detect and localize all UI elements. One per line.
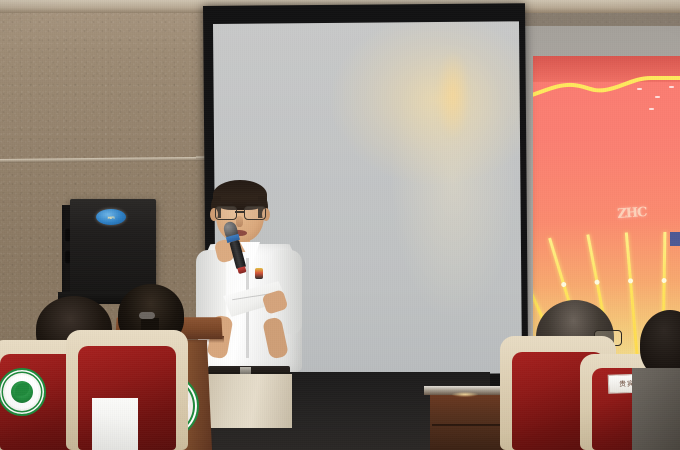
chair-logo-left <box>0 368 46 416</box>
slide-blue-accent <box>670 232 680 246</box>
slide-sparkle <box>669 86 674 88</box>
photo-scene: ZHC HiFi <box>0 0 680 450</box>
seal-leaf-icon <box>15 383 29 396</box>
presenter-trousers <box>208 374 292 428</box>
hair-tie-icon <box>139 312 155 319</box>
loudspeaker-badge: HiFi <box>96 209 126 225</box>
slide-sparkle <box>649 108 654 110</box>
attendee-shoulder-white <box>92 398 138 450</box>
presenter-figure <box>196 178 304 450</box>
loudspeaker-badge-text: HiFi <box>108 215 115 220</box>
eyeglass-lens-left <box>215 206 237 220</box>
slide-ray <box>625 232 640 354</box>
slide-sparkle <box>655 96 660 98</box>
cabinet-highlight <box>452 392 478 397</box>
eyeglass-lens-right <box>244 206 266 220</box>
seal-emblem <box>11 381 33 403</box>
slide-watermark: ZHC <box>617 204 675 240</box>
microphone-tip <box>237 266 246 274</box>
attendee-torso-far-right <box>632 368 680 450</box>
screen-light-reflection <box>430 35 476 155</box>
lapel-pin-icon <box>255 268 263 279</box>
slide-sparkle <box>637 88 642 90</box>
presenter-nose <box>236 216 243 227</box>
eyeglass-bridge <box>235 211 244 213</box>
